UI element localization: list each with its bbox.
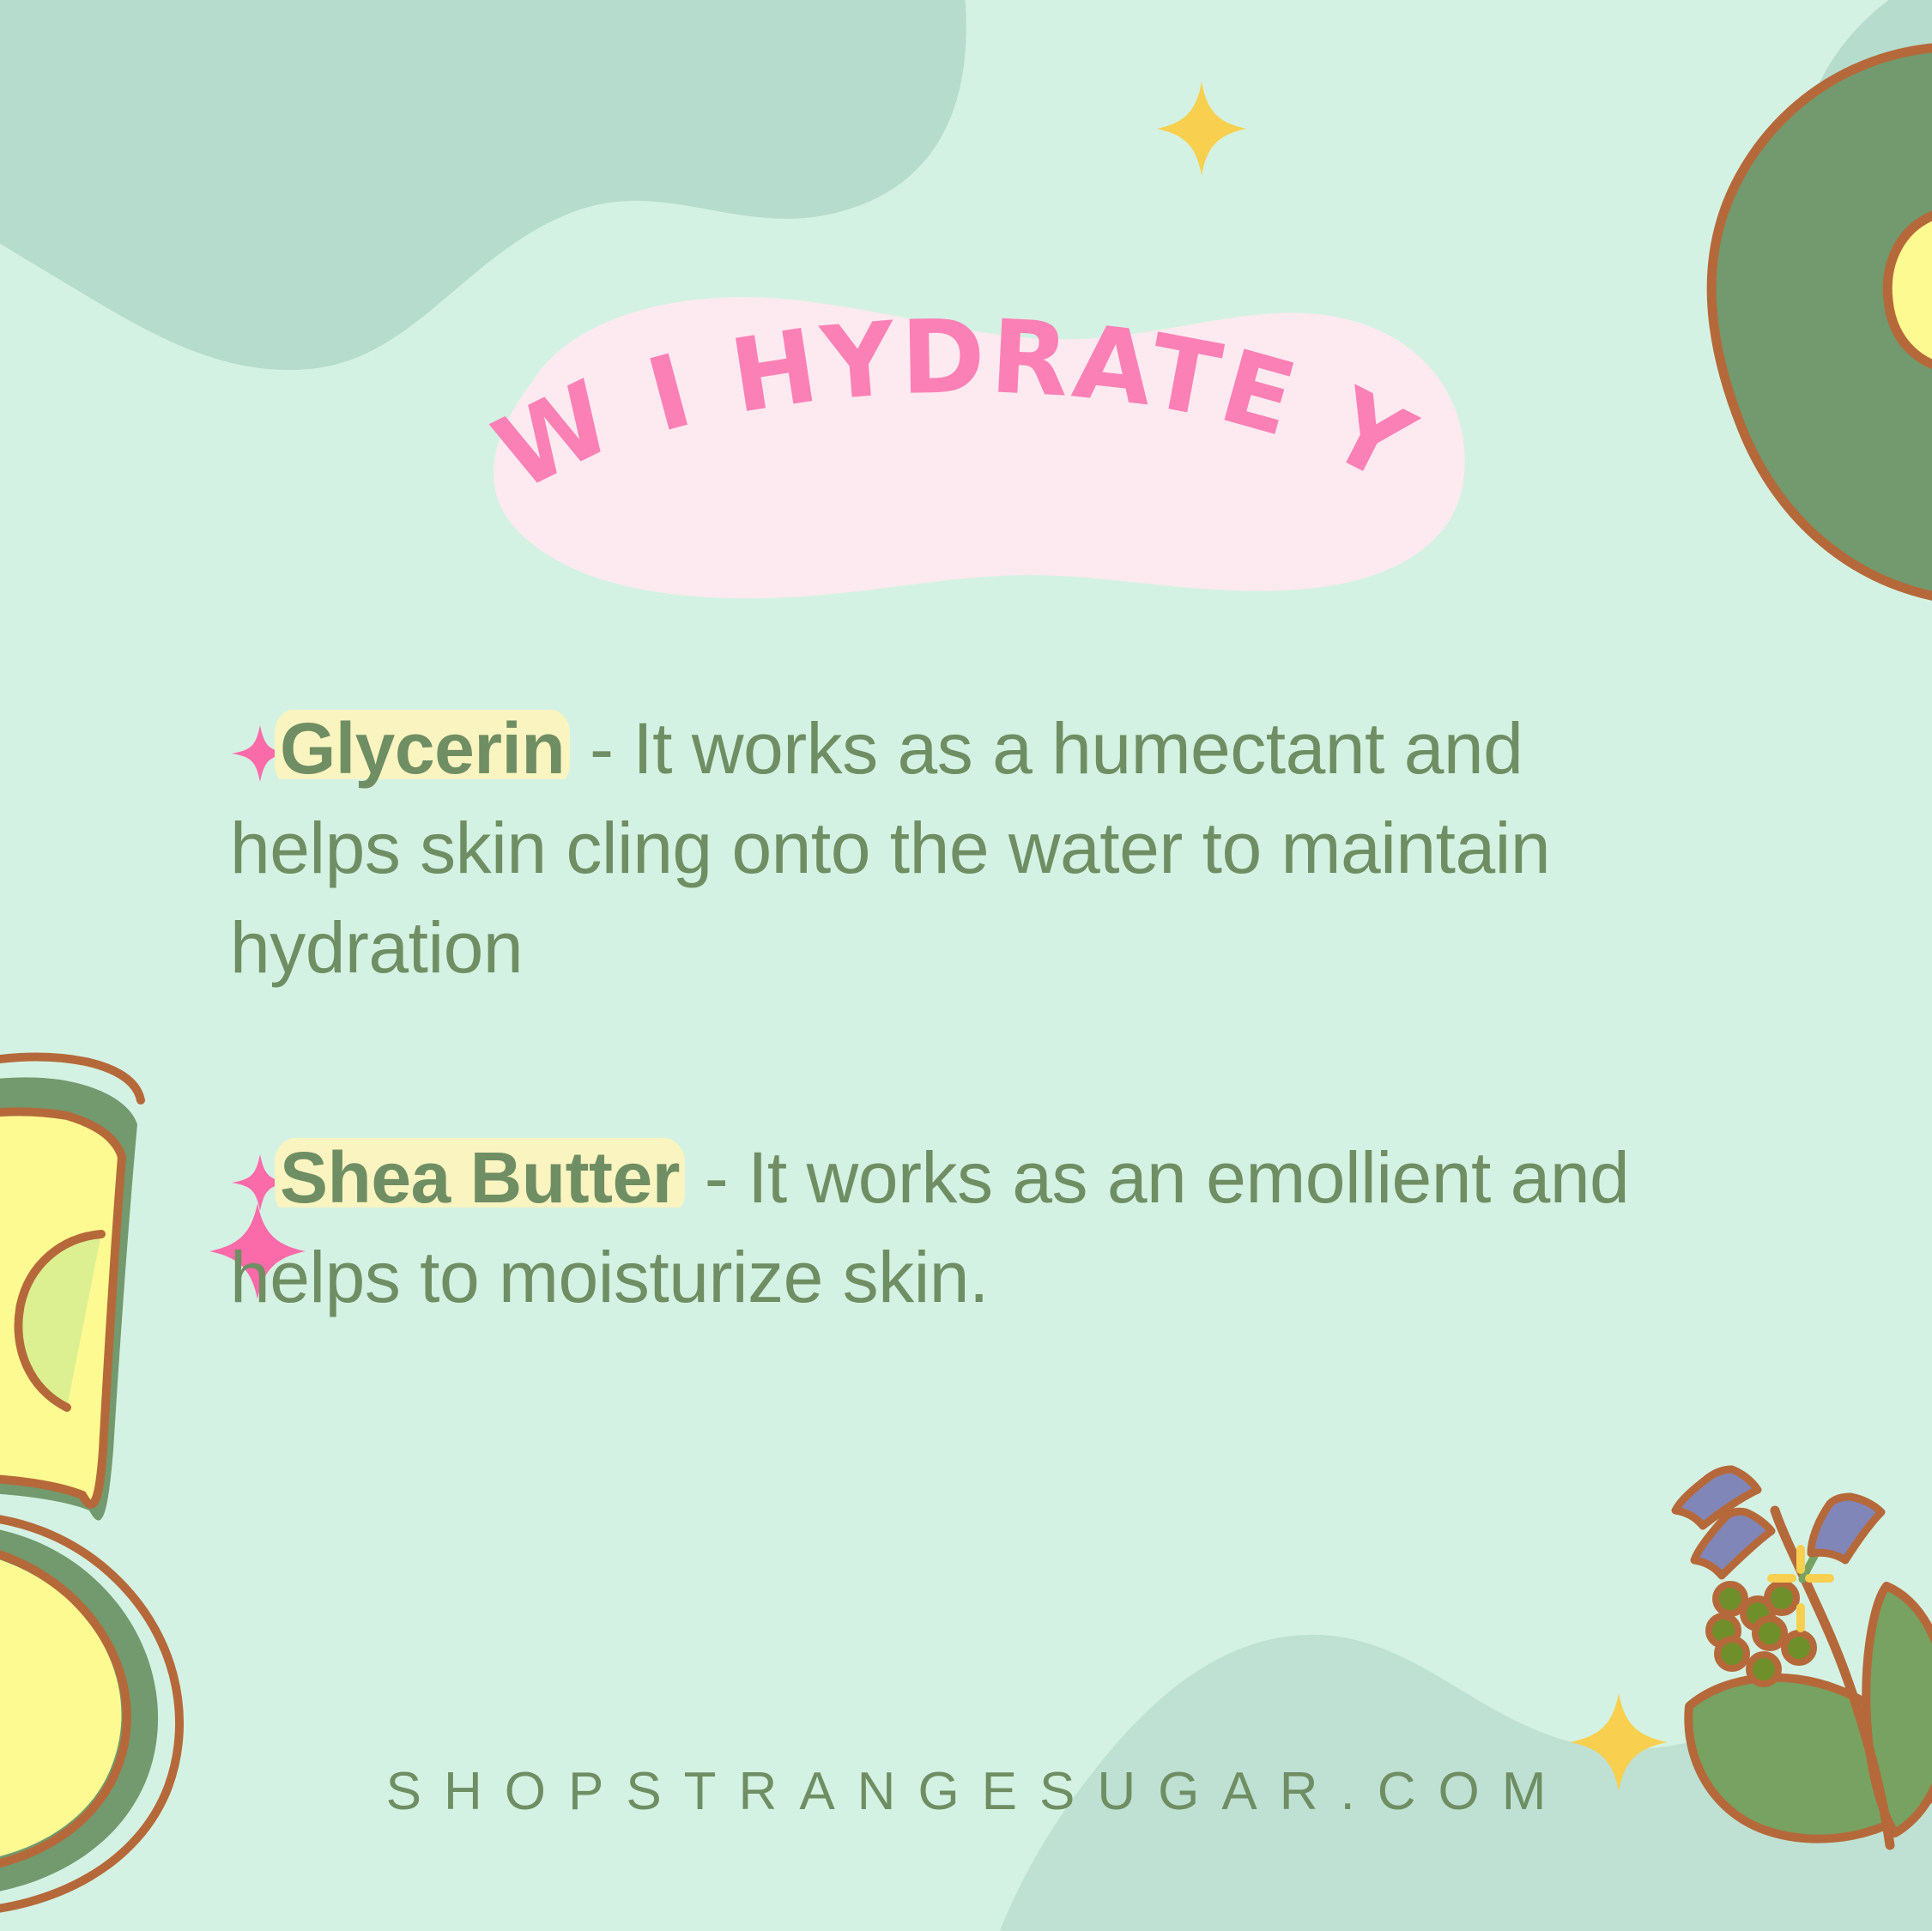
ingredient-list: Glycerin - It works as a humectant and h… [230, 699, 1706, 1328]
ingredient-name: Shea Butter [275, 1137, 685, 1218]
ingredient-description: Shea Butter - It works as an emollient a… [230, 1129, 1706, 1328]
poster-canvas: HOW I HYDRATE YOU Glycerin - It works as… [0, 0, 1932, 1931]
title-banner: HOW I HYDRATE YOU [429, 279, 1476, 605]
flower-buds [1709, 1583, 1814, 1684]
footer-website-url[interactable]: SHOPSTRANGESUGAR.COM [0, 1761, 1932, 1822]
title-text-content: HOW I HYDRATE YOU [429, 279, 1432, 513]
list-item: Shea Butter - It works as an emollient a… [230, 1129, 1706, 1328]
ingredient-description: Glycerin - It works as a humectant and h… [230, 699, 1706, 998]
ingredient-name: Glycerin [275, 708, 570, 789]
list-item: Glycerin - It works as a humectant and h… [230, 699, 1706, 998]
title-text: HOW I HYDRATE YOU [429, 279, 1476, 605]
bell-3 [1811, 1497, 1881, 1560]
